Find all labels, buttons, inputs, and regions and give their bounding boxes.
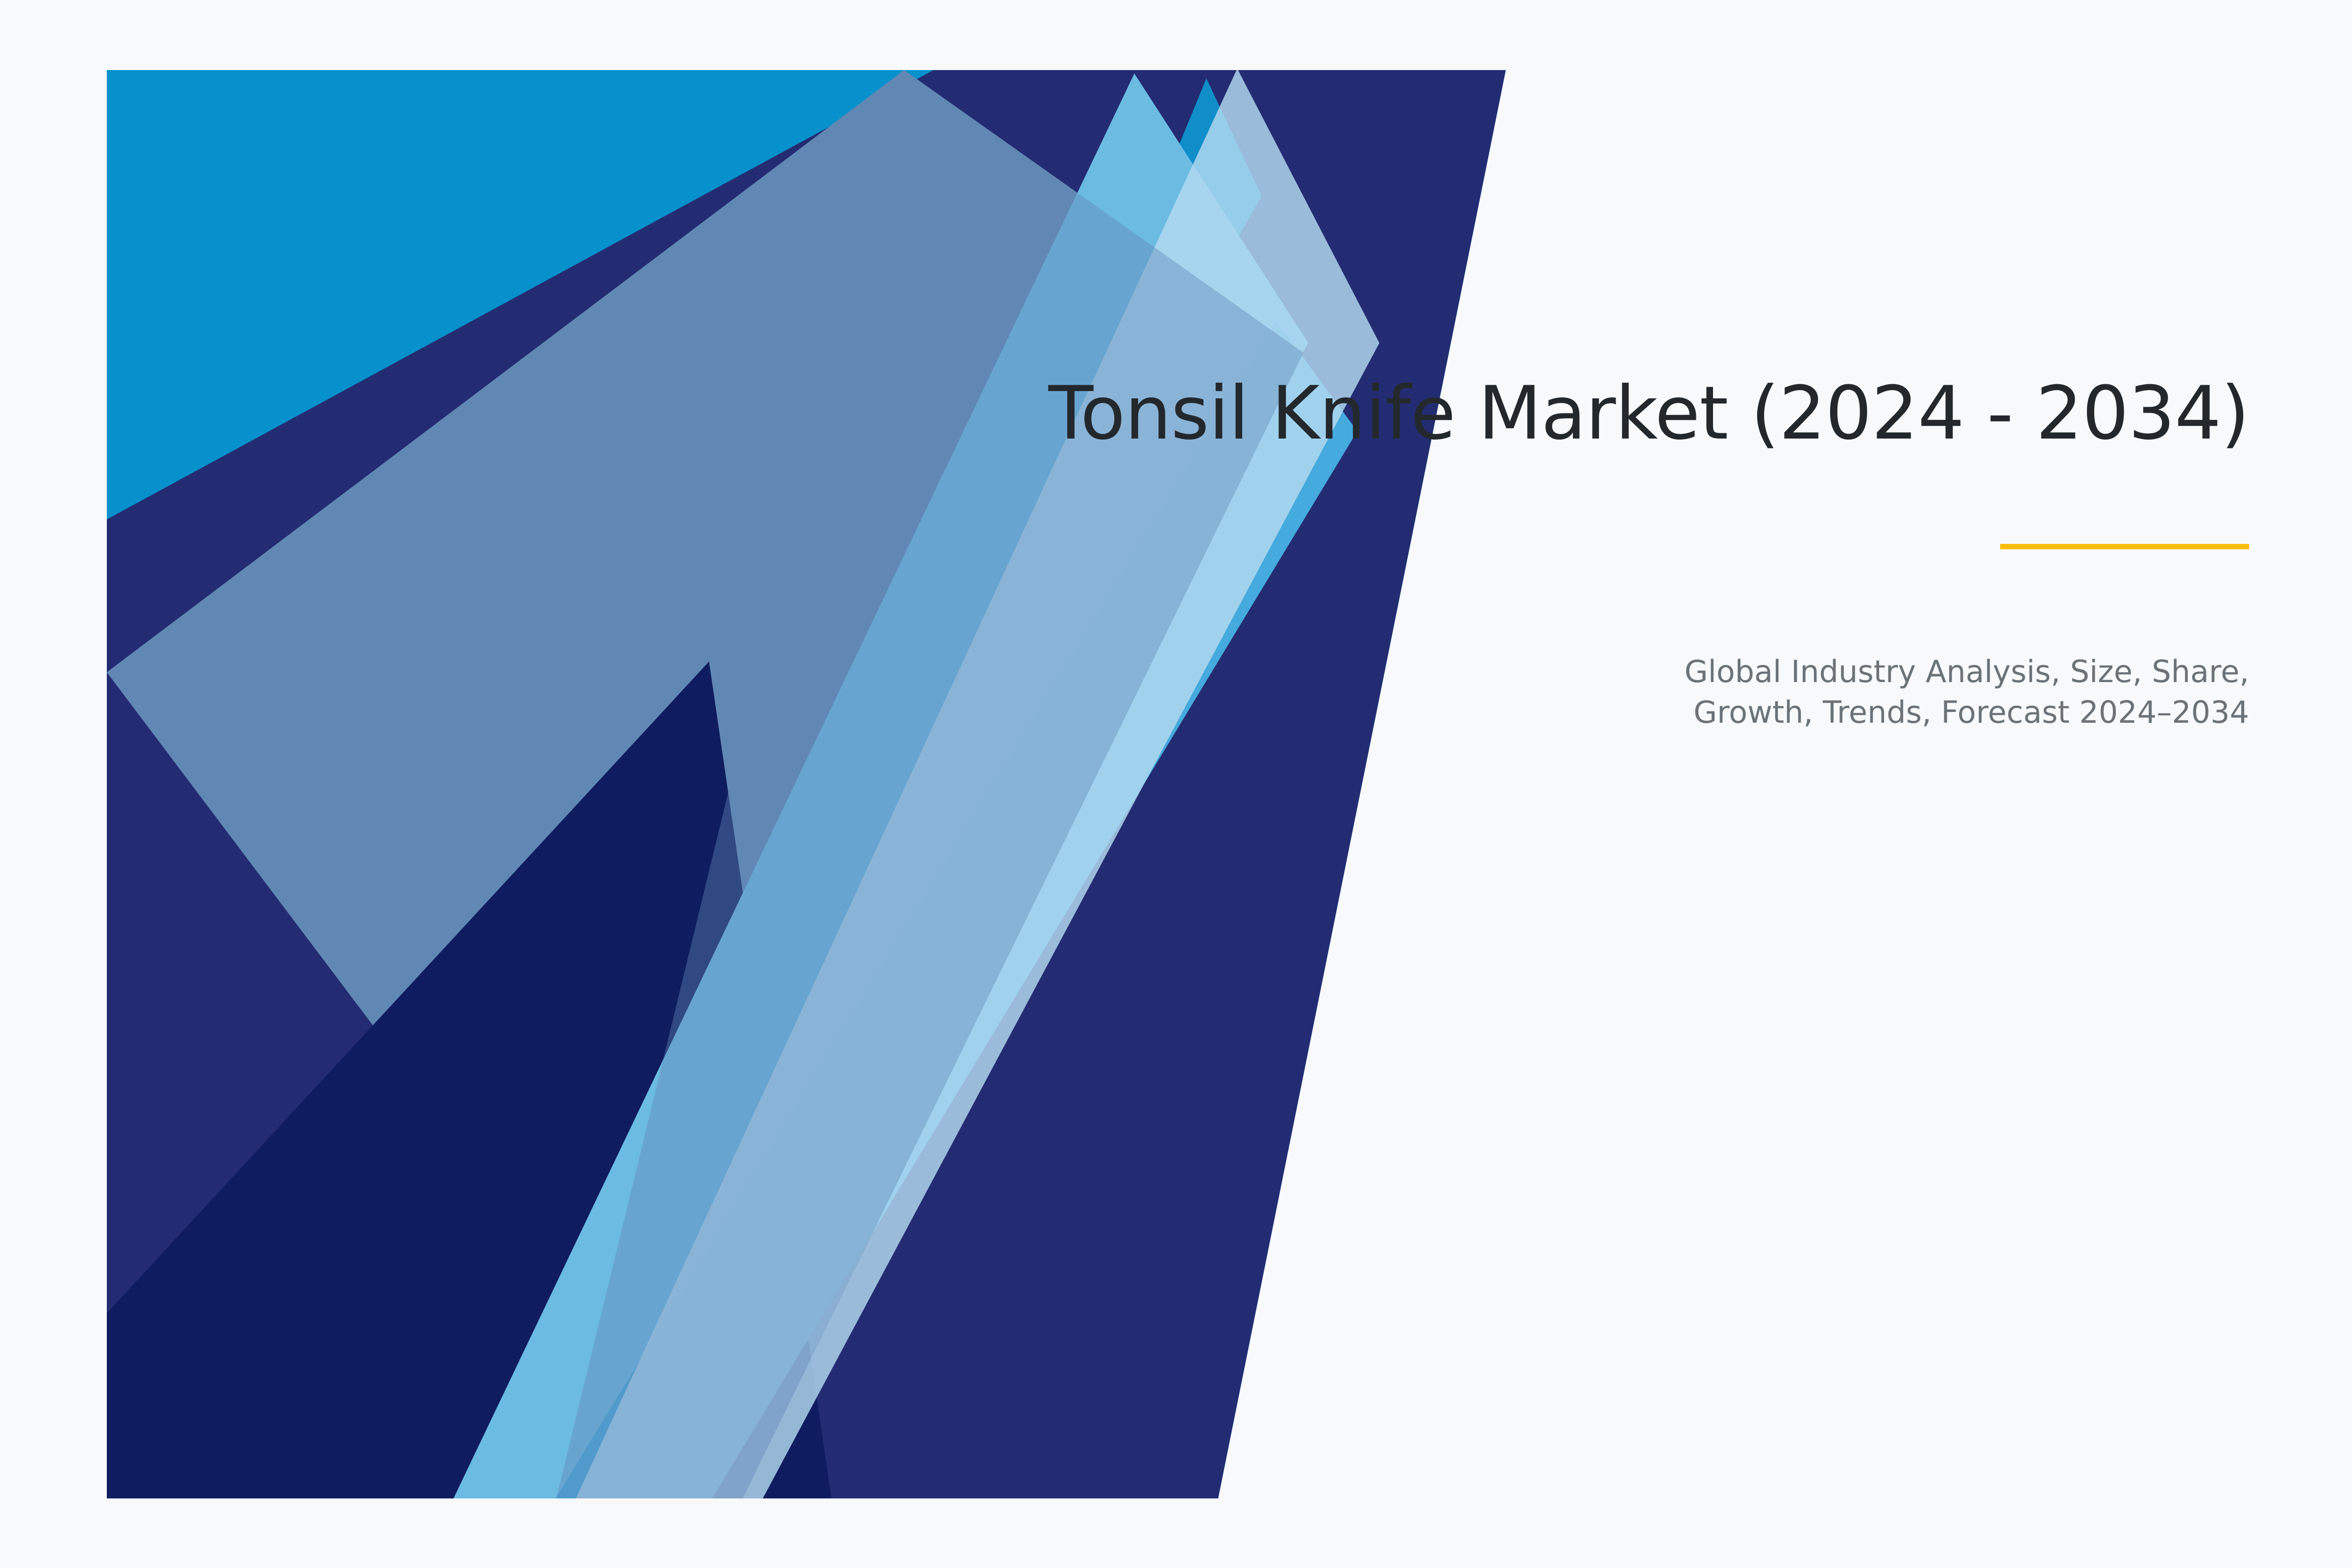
title-text-block: Tonsil Knife Market (2024 - 2034) Global… (931, 372, 2249, 733)
title-slide: Tonsil Knife Market (2024 - 2034) Global… (0, 0, 2352, 1568)
accent-rule (2000, 544, 2249, 549)
abstract-geometric-artwork-detail (0, 0, 2352, 1568)
page-subtitle: Global Industry Analysis, Size, Share, G… (1573, 651, 2249, 733)
page-title: Tonsil Knife Market (2024 - 2034) (931, 372, 2249, 455)
